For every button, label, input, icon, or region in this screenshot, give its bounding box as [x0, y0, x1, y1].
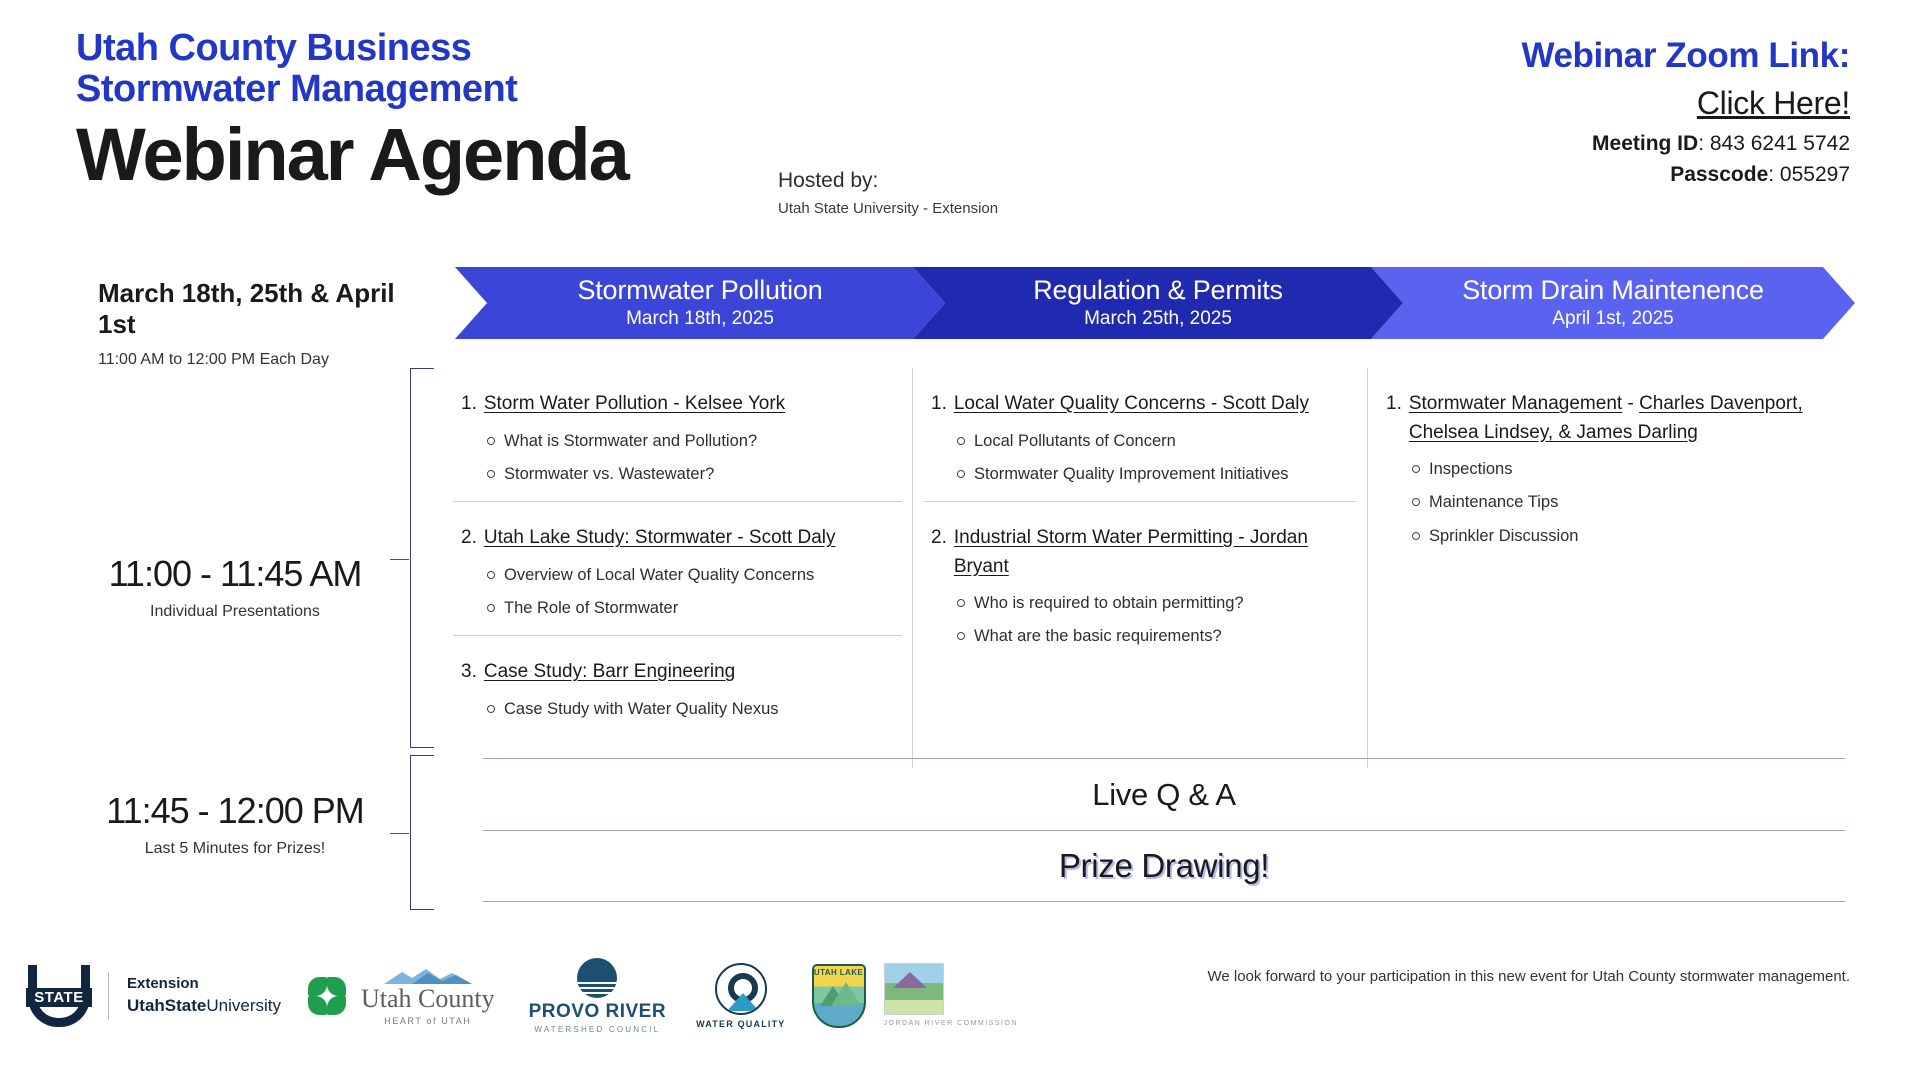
usu-block-u-icon: STATE [28, 965, 90, 1027]
session-number: 2. [461, 524, 477, 553]
agenda-column-1: 1. Storm Water Pollution - Kelsee York W… [443, 368, 913, 768]
zoom-meeting-details: Meeting ID: 843 6241 5742 Passcode: 0552… [1521, 132, 1850, 187]
session-title: Local Water Quality Concerns - Scott Dal… [954, 390, 1309, 419]
hosted-by-org: Utah State University - Extension [778, 200, 998, 219]
agenda-poster: Utah County Business Stormwater Manageme… [0, 0, 1920, 1080]
slot1-note: Individual Presentations [60, 603, 410, 621]
session-bullet: Case Study with Water Quality Nexus [487, 698, 894, 720]
poster-footer: STATE Extension UtahStateUniversity [0, 940, 1920, 1080]
jordan-river-icon [884, 963, 944, 1015]
title-block: Utah County Business Stormwater Manageme… [76, 28, 628, 194]
session-bullet: Local Pollutants of Concern [957, 430, 1349, 452]
session-bullet: Overview of Local Water Quality Concerns [487, 564, 894, 586]
utah-lake-band-label: UTAH LAKE [814, 966, 864, 979]
water-quality-logo: WATER QUALITY [696, 963, 785, 1029]
usu-wordmark: Extension UtahStateUniversity [127, 974, 281, 1017]
session-item: 2. Industrial Storm Water Permitting - J… [923, 501, 1357, 664]
session-title-row: 3. Case Study: Barr Engineering [461, 658, 894, 687]
session-bullet: The Role of Stormwater [487, 597, 894, 619]
session-number: 1. [461, 390, 477, 419]
session-item: 3. Case Study: Barr Engineering Case Stu… [453, 635, 902, 736]
bracket-qa [410, 755, 434, 910]
session-title: Case Study: Barr Engineering [484, 658, 735, 687]
usu-extension-logo: STATE Extension UtahStateUniversity [28, 965, 281, 1027]
session-number: 2. [931, 524, 947, 553]
hosted-by-block: Hosted by: Utah State University - Exten… [778, 168, 998, 219]
session-bullets: Inspections Maintenance Tips Sprinkler D… [1386, 458, 1825, 547]
water-quality-label: WATER QUALITY [696, 1019, 785, 1029]
track-3-date: April 1st, 2025 [1552, 308, 1673, 330]
session-bullet: Stormwater Quality Improvement Initiativ… [957, 463, 1349, 485]
closing-rows: Live Q & A Prize Drawing! [483, 758, 1845, 902]
session-title-row: 1. Storm Water Pollution - Kelsee York [461, 390, 894, 419]
session-item: 1. Local Water Quality Concerns - Scott … [923, 368, 1357, 501]
provo-river-icon [577, 958, 617, 998]
dates-sub: 11:00 AM to 12:00 PM Each Day [98, 351, 408, 369]
dates-header: March 18th, 25th & April 1st 11:00 AM to… [98, 278, 408, 369]
session-title-row: 1. Local Water Quality Concerns - Scott … [931, 390, 1349, 419]
live-qa-row: Live Q & A [483, 758, 1845, 830]
time-slot-qa: 11:45 - 12:00 PM Last 5 Minutes for Priz… [60, 790, 410, 858]
meeting-id-label: Meeting ID [1592, 132, 1698, 155]
usu-extension-label: Extension [127, 974, 281, 994]
passcode-label: Passcode [1670, 163, 1768, 186]
session-bullet: Inspections [1412, 458, 1825, 480]
session-title: Stormwater Management - Charles Davenpor… [1409, 390, 1825, 447]
agenda-column-3: 1. Stormwater Management - Charles Daven… [1368, 368, 1843, 768]
session-bullet: Stormwater vs. Wastewater? [487, 463, 894, 485]
page-title: Webinar Agenda [76, 116, 628, 194]
track-2-name: Regulation & Permits [1033, 276, 1283, 304]
passcode-row: Passcode: 055297 [1521, 163, 1850, 187]
track-chevron-3: Storm Drain Maintenence April 1st, 2025 [1371, 267, 1855, 339]
zoom-info-block: Webinar Zoom Link: Click Here! Meeting I… [1521, 36, 1850, 187]
bracket-tick-presentations [390, 559, 409, 560]
session-item: 2. Utah Lake Study: Stormwater - Scott D… [453, 501, 902, 635]
provo-river-logo: PROVO RIVER WATERSHED COUNCIL [529, 958, 666, 1034]
prize-drawing-row: Prize Drawing! [483, 830, 1845, 902]
zoom-click-here-link[interactable]: Click Here! [1521, 85, 1850, 122]
session-bullet: Who is required to obtain permitting? [957, 592, 1349, 614]
track-3-name: Storm Drain Maintenence [1462, 276, 1764, 304]
session-title-row: 2. Industrial Storm Water Permitting - J… [931, 524, 1349, 581]
session-item: 1. Stormwater Management - Charles Daven… [1378, 368, 1833, 563]
usu-university-label: UtahStateUniversity [127, 995, 281, 1018]
hosted-by-label: Hosted by: [778, 168, 998, 194]
track-chevron-2: Regulation & Permits March 25th, 2025 [913, 267, 1403, 339]
passcode-value: : 055297 [1768, 163, 1850, 186]
utah-county-logo: Utah County HEART of UTAH [361, 967, 495, 1026]
prize-drawing-label: Prize Drawing! [1059, 847, 1269, 885]
slot2-time: 11:45 - 12:00 PM [60, 790, 410, 832]
session-bullets: What is Stormwater and Pollution? Stormw… [461, 430, 894, 486]
session-bullet: What is Stormwater and Pollution? [487, 430, 894, 452]
live-qa-label: Live Q & A [1092, 777, 1235, 813]
session-number: 1. [1386, 390, 1402, 419]
four-h-clover-icon [307, 976, 347, 1016]
track-chevron-1: Stormwater Pollution March 18th, 2025 [455, 267, 945, 339]
session-title-row: 1. Stormwater Management - Charles Daven… [1386, 390, 1825, 447]
usu-university-bold: UtahState [127, 996, 206, 1015]
sponsor-logos: STATE Extension UtahStateUniversity [28, 958, 1018, 1034]
meeting-id-row: Meeting ID: 843 6241 5742 [1521, 132, 1850, 156]
logo-divider [108, 972, 109, 1020]
slot1-time: 11:00 - 11:45 AM [60, 553, 410, 595]
track-1-date: March 18th, 2025 [626, 308, 774, 330]
footer-note: We look forward to your participation in… [1207, 968, 1850, 985]
provo-river-name: PROVO RIVER [529, 1001, 666, 1023]
usu-state-word: STATE [26, 988, 92, 1007]
utah-county-tagline: HEART of UTAH [361, 1016, 495, 1026]
bracket-presentations [410, 368, 434, 748]
utah-lake-authority-logo: UTAH LAKE [812, 964, 866, 1028]
poster-header: Utah County Business Stormwater Manageme… [0, 0, 1920, 250]
agenda-column-2: 1. Local Water Quality Concerns - Scott … [913, 368, 1368, 768]
session-bullets: Local Pollutants of Concern Stormwater Q… [931, 430, 1349, 486]
zoom-link-heading: Webinar Zoom Link: [1521, 36, 1850, 76]
track-chevrons: Stormwater Pollution March 18th, 2025 Re… [455, 267, 1855, 339]
provo-river-sub: WATERSHED COUNCIL [529, 1025, 666, 1034]
water-quality-seal-icon [715, 963, 767, 1015]
mountain-icon [361, 967, 495, 985]
session-number: 1. [931, 390, 947, 419]
track-2-date: March 25th, 2025 [1084, 308, 1232, 330]
dates-main: March 18th, 25th & April 1st [98, 278, 408, 340]
slot2-note: Last 5 Minutes for Prizes! [60, 840, 410, 858]
kicker-line-2: Stormwater Management [76, 69, 628, 110]
track-1-name: Stormwater Pollution [577, 276, 822, 304]
session-bullet: Maintenance Tips [1412, 491, 1825, 513]
session-title-topic: Stormwater Management [1409, 393, 1622, 414]
session-title-separator: - [1622, 393, 1639, 414]
session-bullet: Sprinkler Discussion [1412, 525, 1825, 547]
utah-county-name: Utah County [361, 986, 495, 1012]
usu-university-rest: University [206, 996, 281, 1015]
time-slot-presentations: 11:00 - 11:45 AM Individual Presentation… [60, 553, 410, 621]
session-title-row: 2. Utah Lake Study: Stormwater - Scott D… [461, 524, 894, 553]
jordan-river-label: JORDAN RIVER COMMISSION [884, 1019, 1018, 1030]
session-bullets: Overview of Local Water Quality Concerns… [461, 564, 894, 620]
session-item: 1. Storm Water Pollution - Kelsee York W… [453, 368, 902, 501]
session-bullets: Case Study with Water Quality Nexus [461, 698, 894, 720]
bracket-tick-qa [390, 833, 409, 834]
session-bullet: What are the basic requirements? [957, 625, 1349, 647]
session-bullets: Who is required to obtain permitting? Wh… [931, 592, 1349, 648]
jordan-river-commission-logo: JORDAN RIVER COMMISSION [884, 963, 1018, 1030]
session-title: Industrial Storm Water Permitting - Jord… [954, 524, 1349, 581]
session-number: 3. [461, 658, 477, 687]
agenda-grid: 1. Storm Water Pollution - Kelsee York W… [443, 368, 1843, 768]
utah-lake-shield-icon: UTAH LAKE [812, 964, 866, 1028]
kicker-line-1: Utah County Business [76, 28, 628, 69]
session-title: Storm Water Pollution - Kelsee York [484, 390, 785, 419]
session-title: Utah Lake Study: Stormwater - Scott Daly [484, 524, 836, 553]
meeting-id-value: : 843 6241 5742 [1698, 132, 1850, 155]
